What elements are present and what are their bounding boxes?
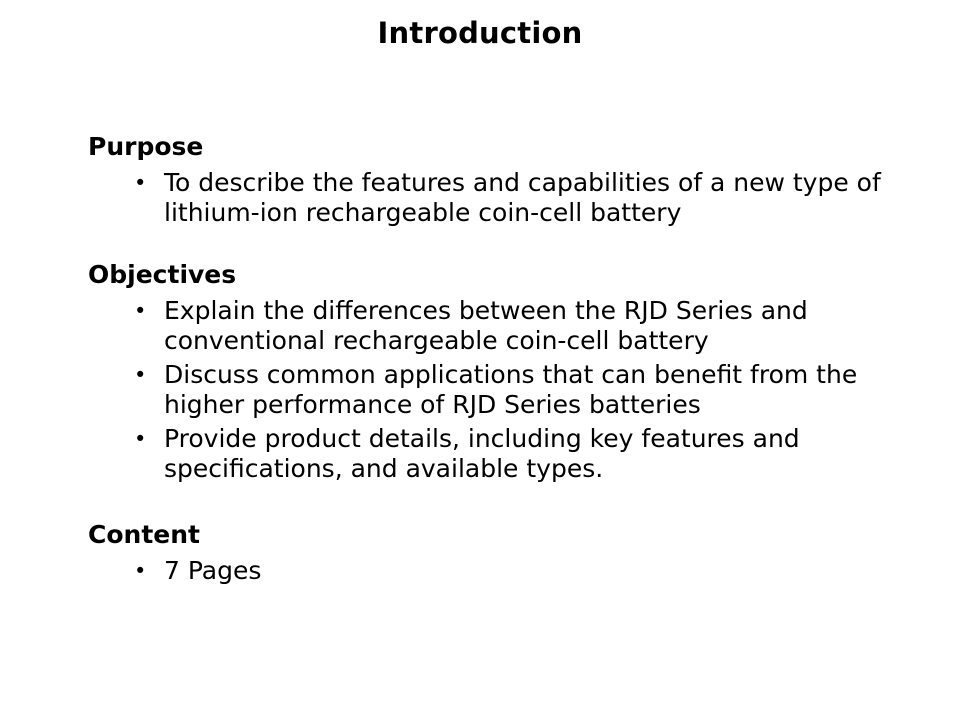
section-heading-objectives: Objectives [88,260,888,290]
list-item: • Discuss common applications that can b… [88,360,888,420]
section-heading-content: Content [88,520,888,550]
list-item: • Explain the differences between the RJ… [88,296,888,356]
bullet-list-content: • 7 Pages [88,556,888,586]
list-item-text: To describe the features and capabilitie… [164,168,881,227]
bullet-dot-icon: • [134,360,146,390]
bullet-dot-icon: • [134,296,146,326]
bullet-dot-icon: • [134,556,146,586]
list-item: • Provide product details, including key… [88,424,888,484]
section-objectives: Objectives • Explain the differences bet… [88,260,888,484]
section-content: Content • 7 Pages [88,520,888,586]
list-item-text: Provide product details, including key f… [164,424,800,483]
bullet-dot-icon: • [134,168,146,198]
section-purpose: Purpose • To describe the features and c… [88,132,888,228]
list-item-text: Explain the differences between the RJD … [164,296,808,355]
slide-canvas: Introduction Purpose • To describe the f… [0,0,960,720]
list-item-text: Discuss common applications that can ben… [164,360,857,419]
section-heading-purpose: Purpose [88,132,888,162]
bullet-list-objectives: • Explain the differences between the RJ… [88,296,888,484]
bullet-dot-icon: • [134,424,146,454]
page-title: Introduction [0,16,960,50]
list-item: • 7 Pages [88,556,888,586]
slide-body: Purpose • To describe the features and c… [88,132,888,588]
list-item-text: 7 Pages [164,556,261,585]
bullet-list-purpose: • To describe the features and capabilit… [88,168,888,228]
list-item: • To describe the features and capabilit… [88,168,888,228]
